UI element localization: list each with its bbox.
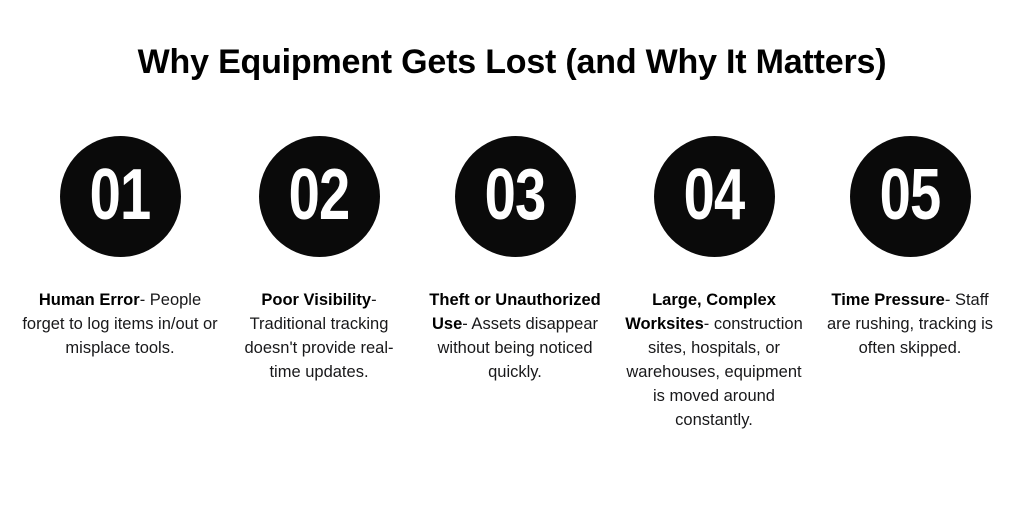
badge-number-label: 04 — [684, 159, 745, 231]
reason-card-04: 04 Large, Complex Worksites- constructio… — [622, 136, 806, 432]
badge-number-label: 05 — [880, 159, 941, 231]
reason-card-list: 01 Human Error- People forget to log ite… — [0, 136, 1024, 432]
reason-card-01: 01 Human Error- People forget to log ite… — [22, 136, 218, 360]
infographic-canvas: Why Equipment Gets Lost (and Why It Matt… — [0, 0, 1024, 512]
reason-card-02: 02 Poor Visibility- Traditional tracking… — [230, 136, 408, 384]
reason-lead-05: Time Pressure — [831, 291, 944, 309]
reason-lead-02: Poor Visibility — [261, 291, 371, 309]
badge-number-label: 01 — [90, 159, 151, 231]
page-title: Why Equipment Gets Lost (and Why It Matt… — [0, 40, 1024, 84]
reason-caption-05: Time Pressure- Staff are rushing, tracki… — [818, 288, 1002, 360]
number-badge-03: 03 — [455, 136, 576, 257]
reason-caption-01: Human Error- People forget to log items … — [22, 288, 218, 360]
number-badge-04: 04 — [654, 136, 775, 257]
number-badge-02: 02 — [259, 136, 380, 257]
reason-caption-02: Poor Visibility- Traditional tracking do… — [230, 288, 408, 384]
badge-number-label: 03 — [485, 159, 546, 231]
reason-caption-03: Theft or Unauthorized Use- Assets disapp… — [420, 288, 610, 384]
reason-card-05: 05 Time Pressure- Staff are rushing, tra… — [818, 136, 1002, 360]
number-badge-05: 05 — [850, 136, 971, 257]
badge-number-label: 02 — [289, 159, 350, 231]
reason-card-03: 03 Theft or Unauthorized Use- Assets dis… — [420, 136, 610, 384]
reason-caption-04: Large, Complex Worksites- construction s… — [622, 288, 806, 432]
reason-body-03: - Assets disappear without being noticed… — [437, 315, 598, 381]
number-badge-01: 01 — [60, 136, 181, 257]
reason-lead-01: Human Error — [39, 291, 140, 309]
